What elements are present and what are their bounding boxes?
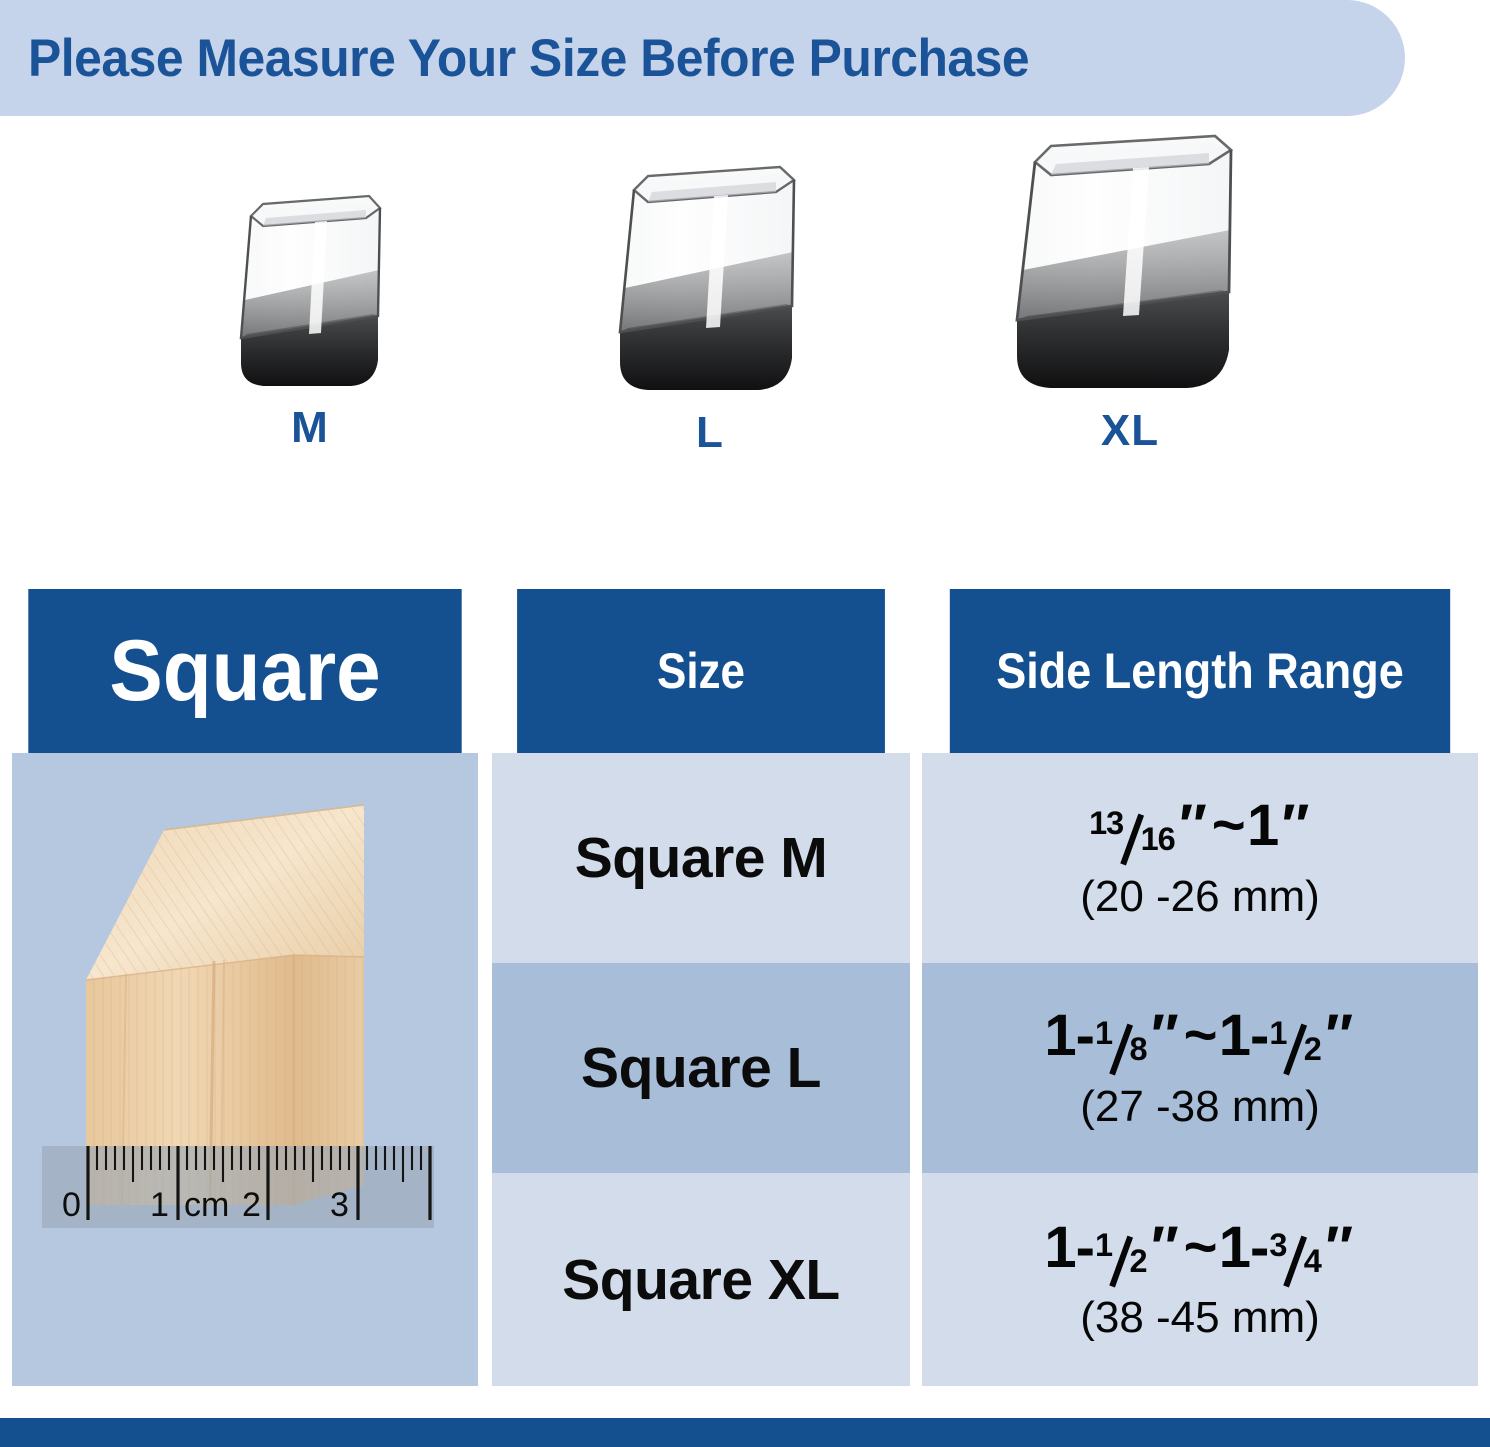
tilde-separator: ~ — [1184, 1007, 1217, 1065]
ruler-icon: 0 1 cm 2 3 — [42, 1146, 434, 1234]
table-row: 13 16 ″ ~ 1 ″ (20 -26 mm) — [922, 753, 1478, 963]
column-header-size: Size — [517, 589, 885, 753]
fraction-1-8: 1 8 — [1095, 1018, 1147, 1071]
inch-mark: ″ — [1151, 1007, 1178, 1065]
table-row: Square XL — [492, 1173, 910, 1386]
fraction-slash — [1112, 1023, 1129, 1076]
product-item-l: L — [560, 160, 860, 458]
svg-text:3: 3 — [330, 1186, 349, 1224]
fraction-slash — [1123, 813, 1140, 866]
fraction-13-16: 13 16 — [1089, 808, 1175, 861]
inch-mark: ″ — [1325, 1219, 1352, 1277]
chair-leg-cap-icon — [991, 128, 1269, 396]
table-row: 1- 1 8 ″ ~ 1- 1 2 ″ (27 - — [922, 963, 1478, 1173]
table-column-range: Side Length Range 13 16 ″ ~ 1 ″ (20 -26 … — [922, 589, 1478, 1386]
range-cell-xl: 1- 1 2 ″ ~ 1- 3 4 ″ (38 - — [1044, 1219, 1355, 1341]
tilde-separator: ~ — [1212, 797, 1245, 855]
range-cell-m: 13 16 ″ ~ 1 ″ (20 -26 mm) — [1080, 797, 1320, 919]
range-inches-l: 1- 1 8 ″ ~ 1- 1 2 ″ — [1044, 1007, 1355, 1071]
measurement-illustration: 0 1 cm 2 3 — [12, 753, 478, 1386]
column-header-range: Side Length Range — [950, 589, 1450, 753]
product-size-label: L — [560, 408, 860, 458]
product-item-m: M — [175, 188, 445, 453]
chair-leg-cap-icon — [223, 188, 398, 393]
fraction-slash — [1112, 1235, 1129, 1288]
range-cell-l: 1- 1 8 ″ ~ 1- 1 2 ″ (27 - — [1044, 1007, 1355, 1129]
inch-mark: ″ — [1282, 797, 1309, 855]
table-column-shape: Square — [12, 589, 478, 1386]
chair-leg-cap-icon — [598, 160, 823, 398]
svg-text:0: 0 — [62, 1186, 81, 1224]
product-size-label: M — [175, 403, 445, 453]
size-name-l: Square L — [581, 1035, 821, 1101]
fraction-1-2: 1 2 — [1095, 1229, 1147, 1282]
range-mm-m: (20 -26 mm) — [1080, 875, 1320, 919]
product-size-label: XL — [955, 406, 1305, 456]
range-mm-l: (27 -38 mm) — [1044, 1085, 1355, 1129]
range-inches-xl: 1- 1 2 ″ ~ 1- 3 4 ″ — [1044, 1219, 1355, 1283]
size-chart-table: Square — [0, 589, 1490, 1419]
range-lower-whole: 1- — [1044, 1219, 1094, 1277]
header-banner: Please Measure Your Size Before Purchase — [0, 0, 1405, 116]
table-row: 1- 1 2 ″ ~ 1- 3 4 ″ (38 - — [922, 1173, 1478, 1386]
page-title: Please Measure Your Size Before Purchase — [28, 28, 1029, 89]
range-lower-whole: 1- — [1044, 1007, 1094, 1065]
inch-mark: ″ — [1179, 797, 1206, 855]
range-upper-whole: 1 — [1247, 797, 1278, 855]
fraction-3-4: 3 4 — [1269, 1229, 1321, 1282]
table-row: Square M — [492, 753, 910, 963]
svg-text:cm: cm — [184, 1186, 229, 1224]
fraction-1-2: 1 2 — [1269, 1018, 1321, 1071]
range-mm-xl: (38 -45 mm) — [1044, 1296, 1355, 1340]
svg-text:2: 2 — [242, 1186, 261, 1224]
product-item-xl: XL — [955, 128, 1305, 456]
table-column-size: Size Square M Square L Square XL — [492, 589, 910, 1386]
table-row: Square L — [492, 963, 910, 1173]
inch-mark: ″ — [1151, 1219, 1178, 1277]
footer-bar — [0, 1418, 1490, 1447]
fraction-slash — [1286, 1235, 1303, 1288]
range-inches-m: 13 16 ″ ~ 1 ″ — [1080, 797, 1320, 861]
fraction-slash — [1286, 1023, 1303, 1076]
tilde-separator: ~ — [1184, 1219, 1217, 1277]
product-showcase: M — [0, 150, 1490, 570]
size-name-m: Square M — [575, 825, 828, 891]
range-upper-whole: 1- — [1219, 1007, 1269, 1065]
size-name-xl: Square XL — [562, 1247, 839, 1313]
range-upper-whole: 1- — [1219, 1219, 1269, 1277]
svg-text:1: 1 — [150, 1186, 169, 1224]
column-header-shape: Square — [28, 589, 461, 753]
inch-mark: ″ — [1325, 1007, 1352, 1065]
